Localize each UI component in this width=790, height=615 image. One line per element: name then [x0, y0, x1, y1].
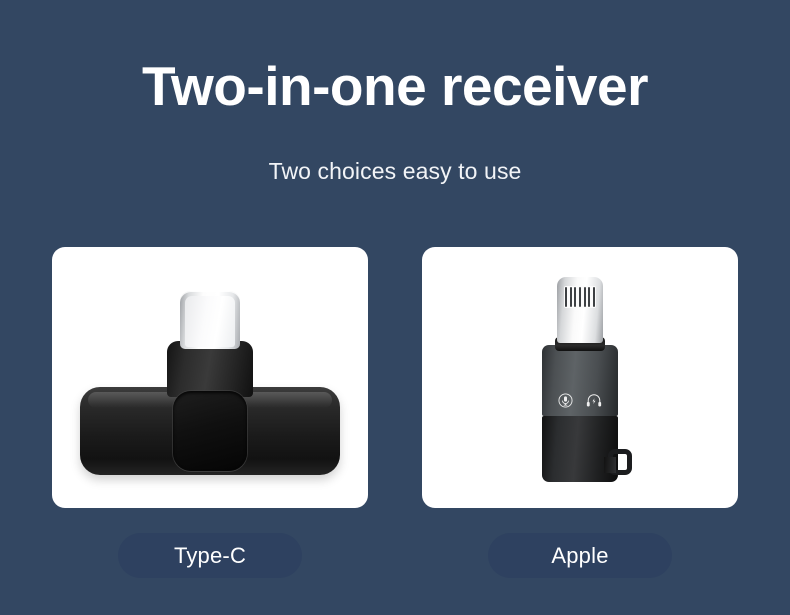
adapter-upper-body — [542, 345, 618, 416]
page-title: Two-in-one receiver — [0, 58, 790, 116]
lanyard-loop-icon — [608, 449, 632, 475]
button-type-c[interactable]: Type-C — [118, 533, 302, 578]
apple-adapter-illustration — [520, 277, 640, 482]
product-image-apple — [422, 247, 738, 508]
button-apple[interactable]: Apple — [488, 533, 672, 578]
adapter-icon-row — [542, 393, 618, 408]
page-subtitle: Two choices easy to use — [0, 158, 790, 185]
product-image-type-c — [52, 247, 368, 508]
adapter-port-recess — [173, 391, 247, 471]
headphone-charge-icon — [586, 393, 602, 408]
adapter-neck — [167, 341, 253, 397]
lightning-contact-pins — [564, 286, 596, 308]
usb-c-plug-icon — [180, 291, 240, 349]
product-card-apple[interactable] — [422, 247, 738, 508]
product-card-type-c[interactable] — [52, 247, 368, 508]
lightning-plug-icon — [557, 277, 603, 343]
microphone-icon — [558, 393, 573, 408]
type-c-adapter-illustration — [80, 291, 340, 481]
